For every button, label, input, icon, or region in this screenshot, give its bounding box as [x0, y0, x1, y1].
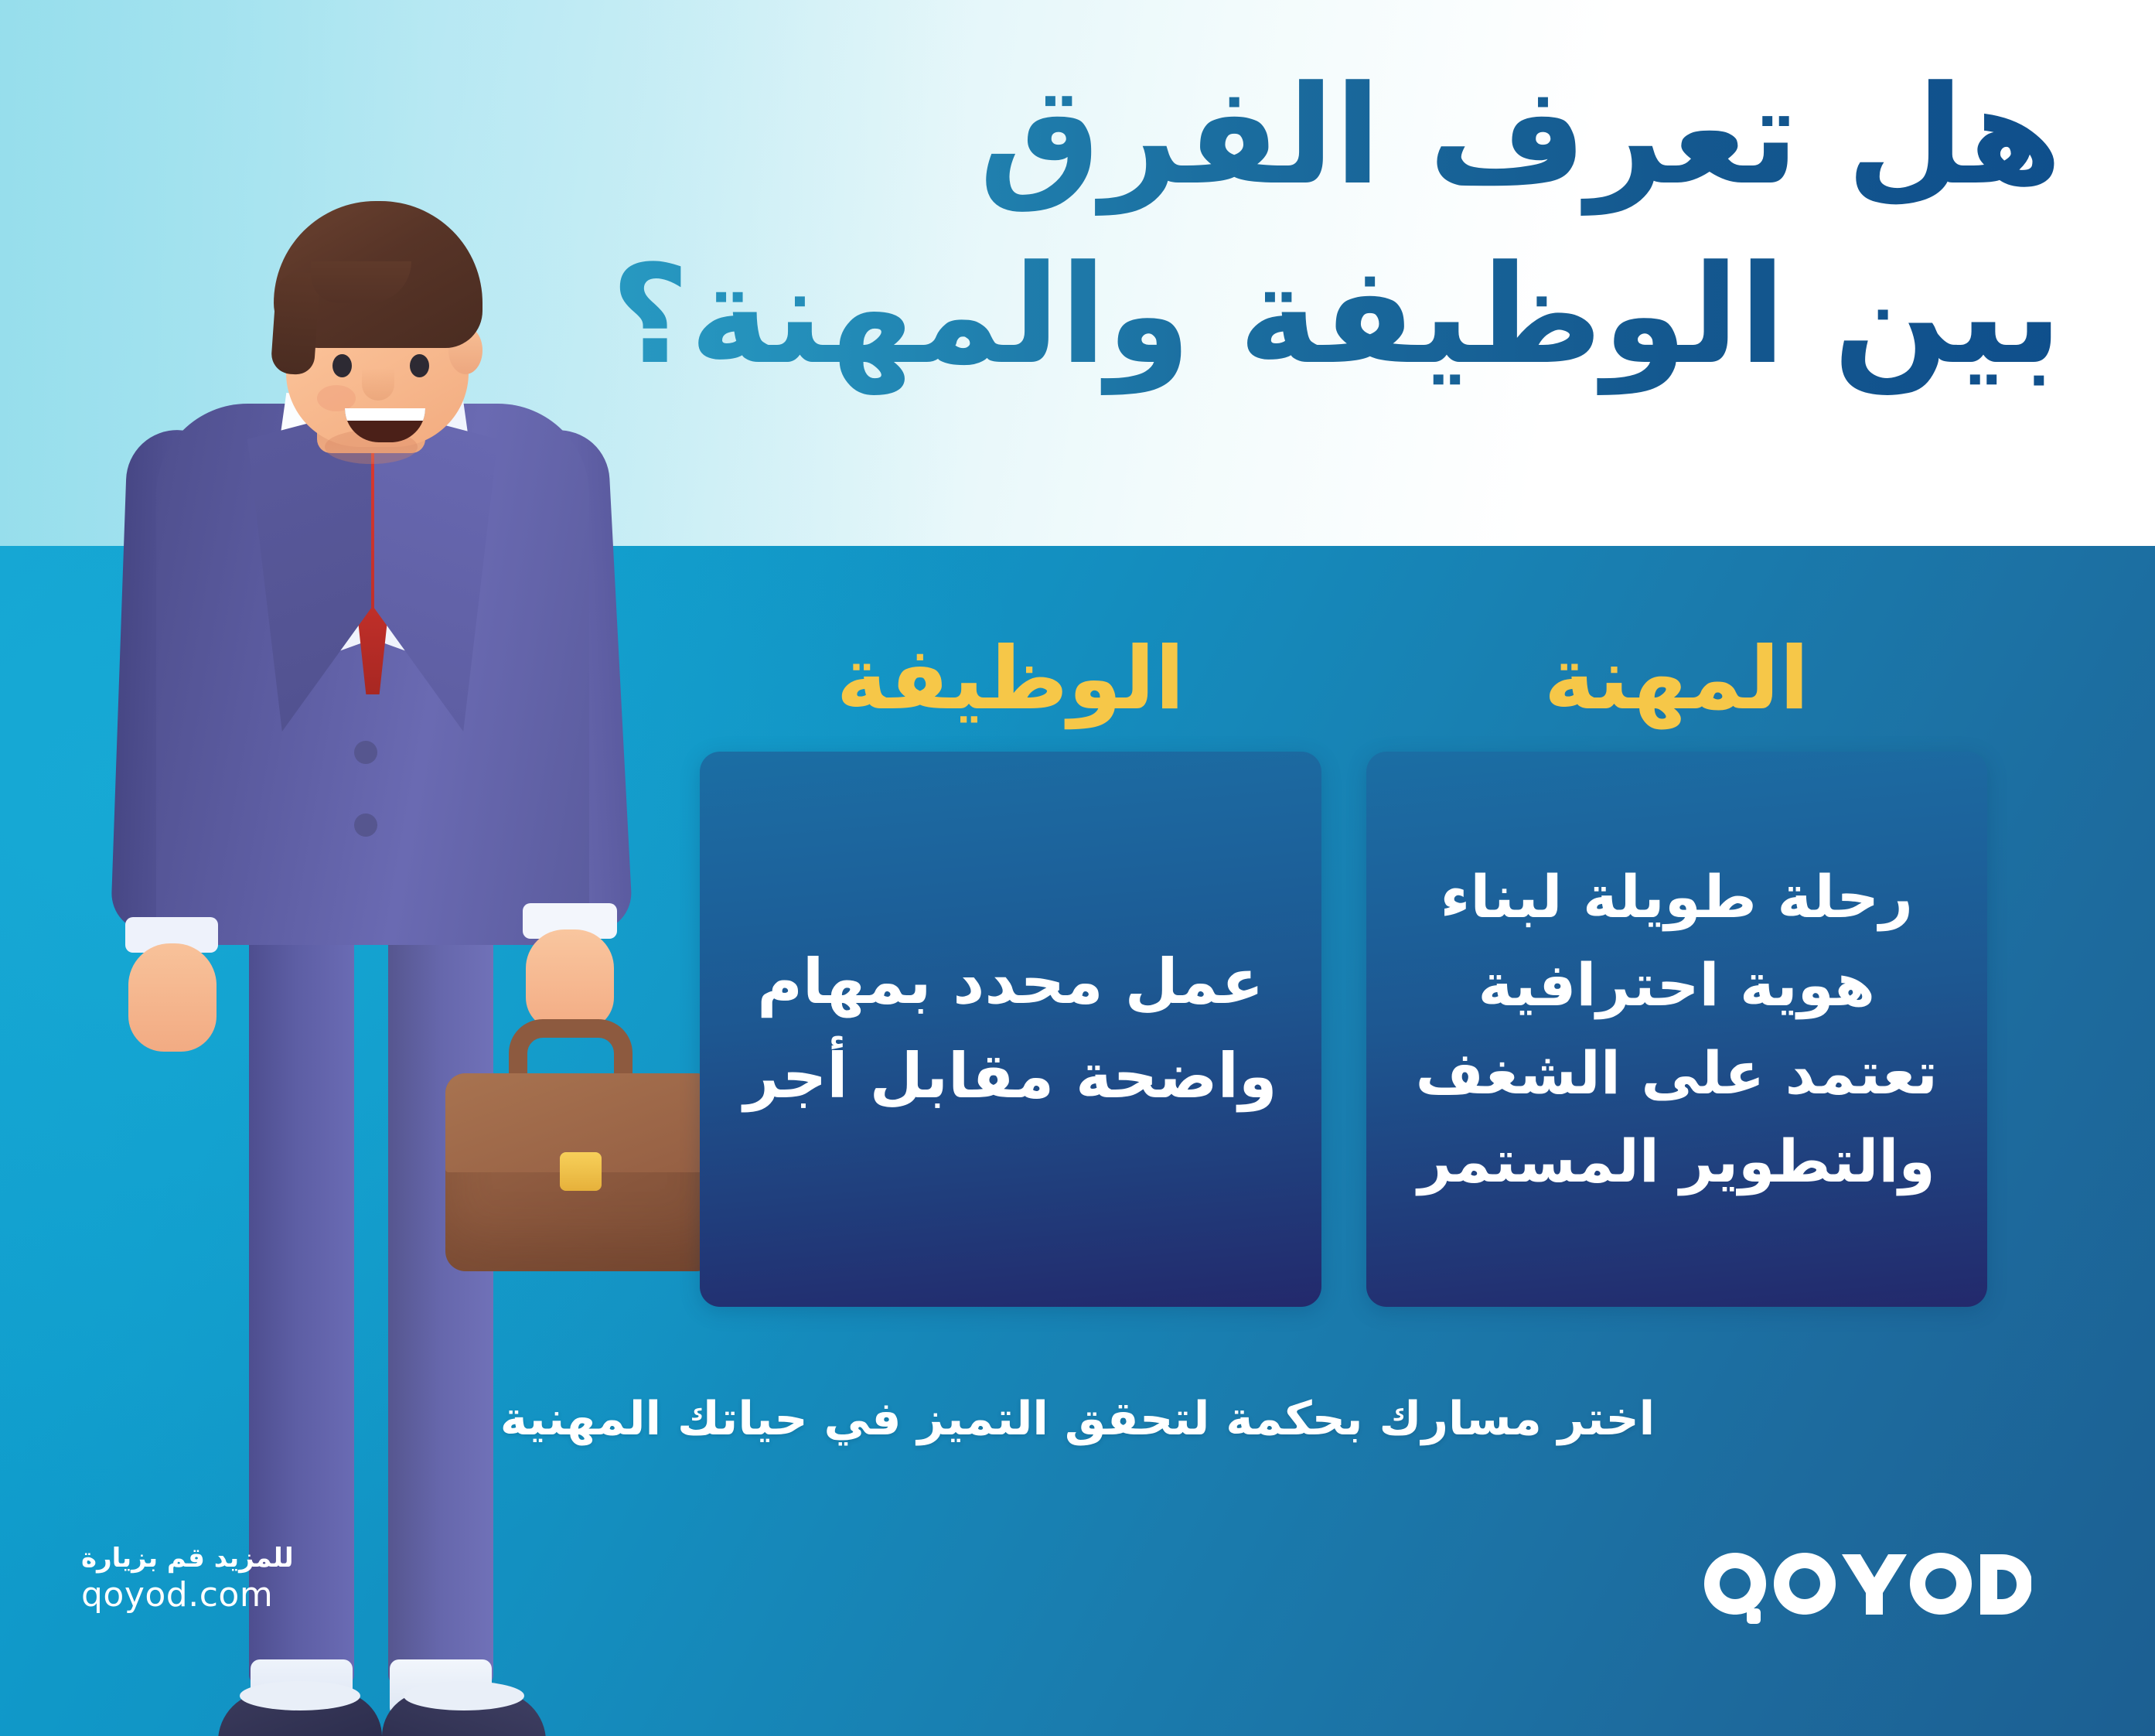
card-profession-title: المهنة — [1366, 636, 1988, 722]
hand-right — [526, 929, 614, 1030]
shoe-left — [218, 1692, 382, 1736]
footer-visit-block: للمزيد قم بزيارة qoyod.com — [81, 1543, 294, 1616]
nose — [362, 368, 394, 401]
tagline: اختر مسارك بحكمة لتحقق التميز في حياتك ا… — [0, 1388, 2155, 1451]
jacket-button-top — [354, 741, 377, 764]
card-job: الوظيفة عمل محدد بمهام واضحة مقابل أجر — [700, 752, 1321, 1307]
hand-left — [128, 943, 217, 1052]
qoyod-logo — [1699, 1547, 2031, 1632]
comparison-cards: الوظيفة عمل محدد بمهام واضحة مقابل أجر ا… — [700, 752, 1987, 1307]
card-job-title: الوظيفة — [700, 636, 1321, 722]
eye-right — [410, 354, 429, 377]
card-profession: المهنة رحلة طويلة لبناء هوية احترافية تع… — [1366, 752, 1988, 1307]
jacket-button-bottom — [354, 813, 377, 837]
cheek-blush — [317, 385, 356, 411]
briefcase-clasp-icon — [560, 1152, 602, 1191]
headline-line-1: هل تعرف الفرق — [979, 56, 2062, 215]
shoe-right — [382, 1692, 546, 1736]
infographic-poster: هل تعرف الفرق بين الوظيفة والمهنة؟ — [0, 0, 2155, 1736]
eye-left — [332, 354, 352, 377]
card-profession-body: رحلة طويلة لبناء هوية احترافية تعتمد على… — [1376, 853, 1978, 1206]
footer-website[interactable]: qoyod.com — [81, 1574, 294, 1616]
footer-visit-label: للمزيد قم بزيارة — [81, 1543, 294, 1574]
card-job-body: عمل محدد بمهام واضحة مقابل أجر — [704, 935, 1318, 1123]
